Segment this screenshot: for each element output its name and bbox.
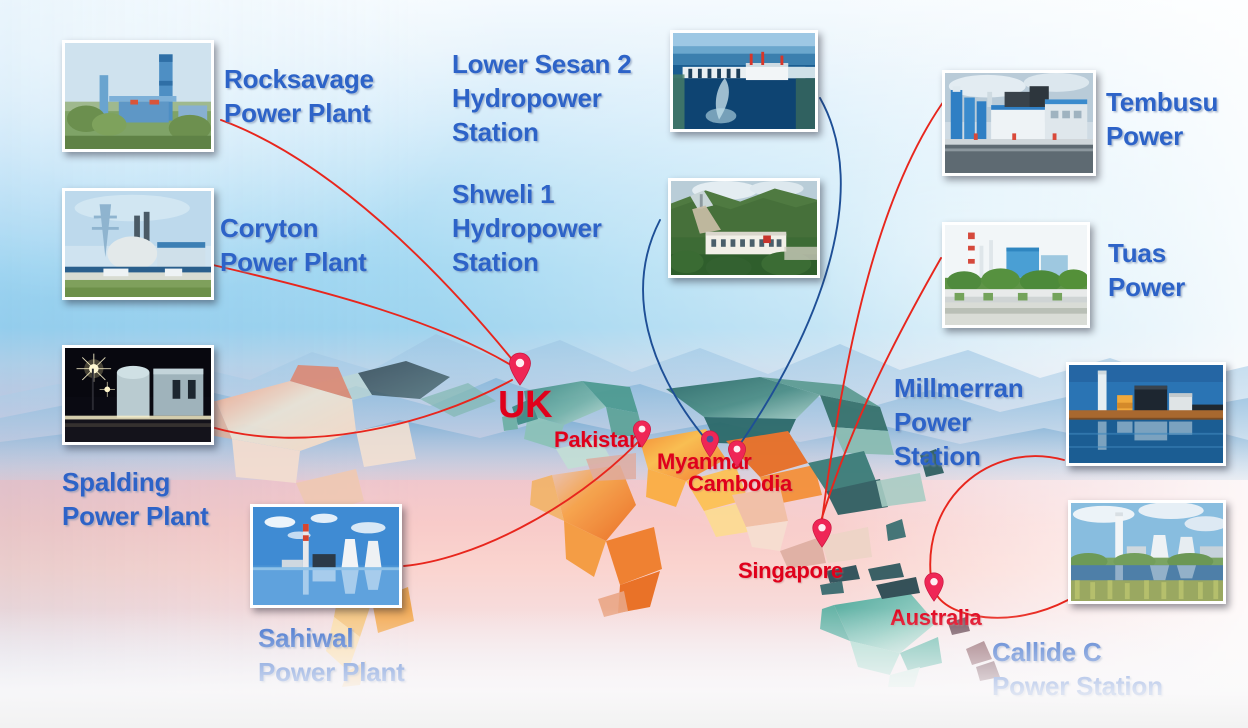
- map-infographic-canvas: Rocksavage Power Plant Coryton Power Pla…: [0, 0, 1248, 728]
- plant-label-tembusu: Tembusu Power: [1106, 86, 1218, 154]
- spalding-photo: [65, 348, 211, 442]
- country-label-cambodia: Cambodia: [688, 473, 792, 495]
- map-pin-pakistan[interactable]: [632, 420, 652, 448]
- country-label-singapore: Singapore: [738, 560, 843, 582]
- plant-label-millmerran: Millmerran Power Station: [894, 372, 1024, 473]
- country-label-uk: UK: [498, 386, 552, 424]
- background-bottom-fade: [0, 608, 1248, 728]
- map-pin-cambodia[interactable]: [727, 440, 747, 468]
- thumbnail-lowersesan2[interactable]: [670, 30, 818, 132]
- plant-label-tuas: Tuas Power: [1108, 237, 1185, 305]
- thumbnail-coryton[interactable]: [62, 188, 214, 300]
- thumbnail-spalding[interactable]: [62, 345, 214, 445]
- millmerran-photo: [1069, 365, 1223, 463]
- shweli-1-photo: [671, 181, 817, 275]
- rocksavage-photo: [65, 43, 211, 149]
- map-pin-singapore[interactable]: [811, 518, 833, 548]
- lower-sesan-2-photo: [673, 33, 815, 129]
- thumbnail-tembusu[interactable]: [942, 70, 1096, 176]
- sahiwal-photo: [253, 507, 399, 605]
- coryton-photo: [65, 191, 211, 297]
- plant-label-coryton: Coryton Power Plant: [220, 212, 367, 280]
- plant-label-spalding: Spalding Power Plant: [62, 466, 209, 534]
- plant-label-rocksavage: Rocksavage Power Plant: [224, 63, 374, 131]
- tembusu-photo: [945, 73, 1093, 173]
- plant-label-shweli1: Shweli 1 Hydropower Station: [452, 178, 602, 279]
- map-pin-myanmar[interactable]: [700, 430, 720, 458]
- plant-label-lowersesan2: Lower Sesan 2 Hydropower Station: [452, 48, 631, 149]
- map-pin-uk[interactable]: [508, 352, 532, 386]
- tuas-photo: [945, 225, 1087, 325]
- country-label-pakistan: Pakistan: [554, 429, 642, 451]
- callide-c-photo: [1071, 503, 1223, 601]
- thumbnail-callidec[interactable]: [1068, 500, 1226, 604]
- thumbnail-sahiwal[interactable]: [250, 504, 402, 608]
- map-pin-australia[interactable]: [923, 572, 945, 602]
- thumbnail-shweli1[interactable]: [668, 178, 820, 278]
- thumbnail-millmerran[interactable]: [1066, 362, 1226, 466]
- thumbnail-rocksavage[interactable]: [62, 40, 214, 152]
- thumbnail-tuas[interactable]: [942, 222, 1090, 328]
